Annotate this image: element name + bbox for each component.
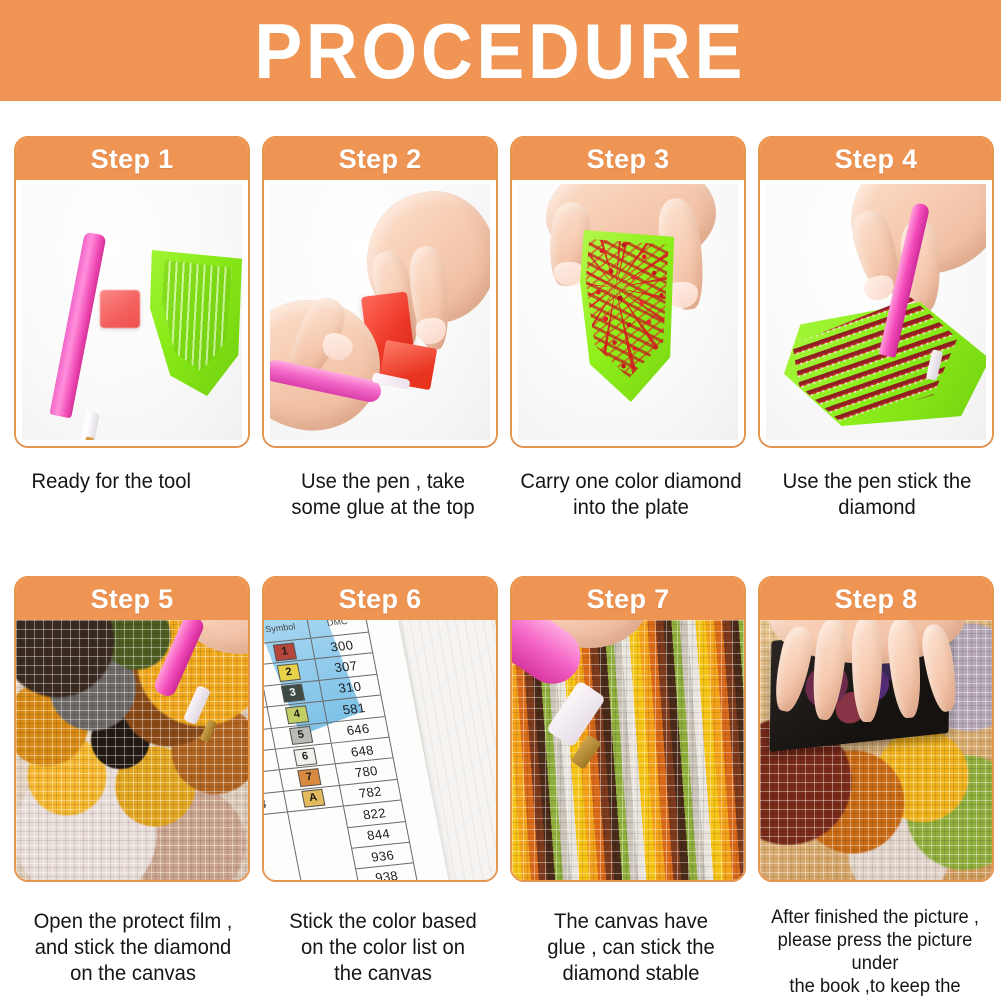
step-body-3	[512, 180, 744, 446]
step-title-7: Step 7	[587, 584, 670, 615]
step-title-2: Step 2	[339, 144, 422, 175]
step-header-6: Step 6	[264, 578, 496, 620]
symbol-swatch: 7	[297, 768, 321, 787]
step-header-1: Step 1	[16, 138, 248, 180]
step-photo-2	[270, 184, 490, 440]
caption-line: the canvas	[266, 960, 501, 986]
step-body-7	[512, 620, 744, 880]
symbol-swatch: 3	[281, 684, 305, 703]
step-caption-4: Use the pen stick the diamond	[760, 468, 995, 520]
step-title-3: Step 3	[587, 144, 670, 175]
step-card-4: Step 4	[758, 136, 994, 448]
step-photo-4	[766, 184, 986, 440]
page-title: PROCEDURE	[255, 11, 747, 91]
glue-square-icon	[100, 290, 140, 328]
caption-line: Ready for the tool	[32, 468, 267, 494]
step-title-5: Step 5	[91, 584, 174, 615]
step-card-7: Step 7	[510, 576, 746, 882]
caption-line: into the plate	[514, 494, 749, 520]
page-header-banner: PROCEDURE	[0, 0, 1001, 101]
symbol-swatch: 4	[285, 705, 309, 724]
caption-line: please press the picture under	[758, 929, 993, 975]
caption-line: some glue at the top	[266, 494, 501, 520]
step-header-5: Step 5	[16, 578, 248, 620]
step-card-6: Step 6 Number 1 2 3 4	[262, 576, 498, 882]
symbol-swatch: 5	[289, 726, 313, 745]
caption-line: the book ,to keep the diamond	[758, 975, 993, 1001]
step-body-6: Number 1 2 3 4 5 6 7 8 Symbol 1	[264, 620, 496, 880]
step-body-2	[264, 180, 496, 446]
step-header-4: Step 4	[760, 138, 992, 180]
caption-line: The canvas have	[514, 908, 749, 934]
symbol-swatch: 1	[273, 642, 297, 661]
step-photo-6: Number 1 2 3 4 5 6 7 8 Symbol 1	[264, 620, 496, 880]
caption-line: Stick the color based	[266, 908, 501, 934]
caption-line: glue , can stick the	[514, 934, 749, 960]
caption-line: and stick the diamond	[16, 934, 251, 960]
step-caption-8: After finished the picture , please pres…	[758, 906, 993, 1001]
step-header-3: Step 3	[512, 138, 744, 180]
caption-line: Open the protect film ,	[16, 908, 251, 934]
step-photo-8	[760, 620, 992, 880]
step-caption-3: Carry one color diamond into the plate	[514, 468, 749, 520]
step-body-8	[760, 620, 992, 880]
caption-line: After finished the picture ,	[758, 906, 993, 929]
symbol-swatch: A	[301, 789, 325, 808]
chart-cell-no: 8	[264, 792, 287, 818]
caption-line: Use the pen stick the	[760, 468, 995, 494]
procedure-infographic: PROCEDURE Step 1 Step 2	[0, 0, 1001, 1001]
caption-line: on the color list on	[266, 934, 501, 960]
caption-line: diamond stable	[514, 960, 749, 986]
step-card-2: Step 2	[262, 136, 498, 448]
step-caption-5: Open the protect film , and stick the di…	[16, 908, 251, 986]
caption-line: on the canvas	[16, 960, 251, 986]
step-title-1: Step 1	[91, 144, 174, 175]
chart-cell-symbol: A	[284, 786, 343, 813]
step-header-7: Step 7	[512, 578, 744, 620]
step-photo-5	[16, 620, 248, 880]
step-caption-7: The canvas have glue , can stick the dia…	[514, 908, 749, 986]
step-title-6: Step 6	[339, 584, 422, 615]
step-header-2: Step 2	[264, 138, 496, 180]
step-body-5	[16, 620, 248, 880]
step-card-3: Step 3	[510, 136, 746, 448]
step-title-8: Step 8	[835, 584, 918, 615]
step-card-8: Step 8	[758, 576, 994, 882]
step-card-1: Step 1	[14, 136, 250, 448]
step-photo-3	[518, 184, 738, 440]
step-caption-1: Ready for the tool	[32, 468, 267, 494]
step-body-1	[16, 180, 248, 446]
caption-line: diamond	[760, 494, 995, 520]
step-body-4	[760, 180, 992, 446]
diamond-canvas-icon	[16, 620, 248, 880]
step-caption-6: Stick the color based on the color list …	[266, 908, 501, 986]
step-title-4: Step 4	[835, 144, 918, 175]
caption-line: Carry one color diamond	[514, 468, 749, 494]
step-header-8: Step 8	[760, 578, 992, 620]
symbol-swatch: 6	[293, 747, 317, 766]
caption-line: Use the pen , take	[266, 468, 501, 494]
color-chart-photo: Number 1 2 3 4 5 6 7 8 Symbol 1	[264, 620, 496, 880]
step-photo-7	[512, 620, 744, 880]
step-photo-1	[22, 184, 242, 440]
step-caption-2: Use the pen , take some glue at the top	[266, 468, 501, 520]
symbol-swatch: 2	[277, 663, 301, 682]
step-card-5: Step 5	[14, 576, 250, 882]
